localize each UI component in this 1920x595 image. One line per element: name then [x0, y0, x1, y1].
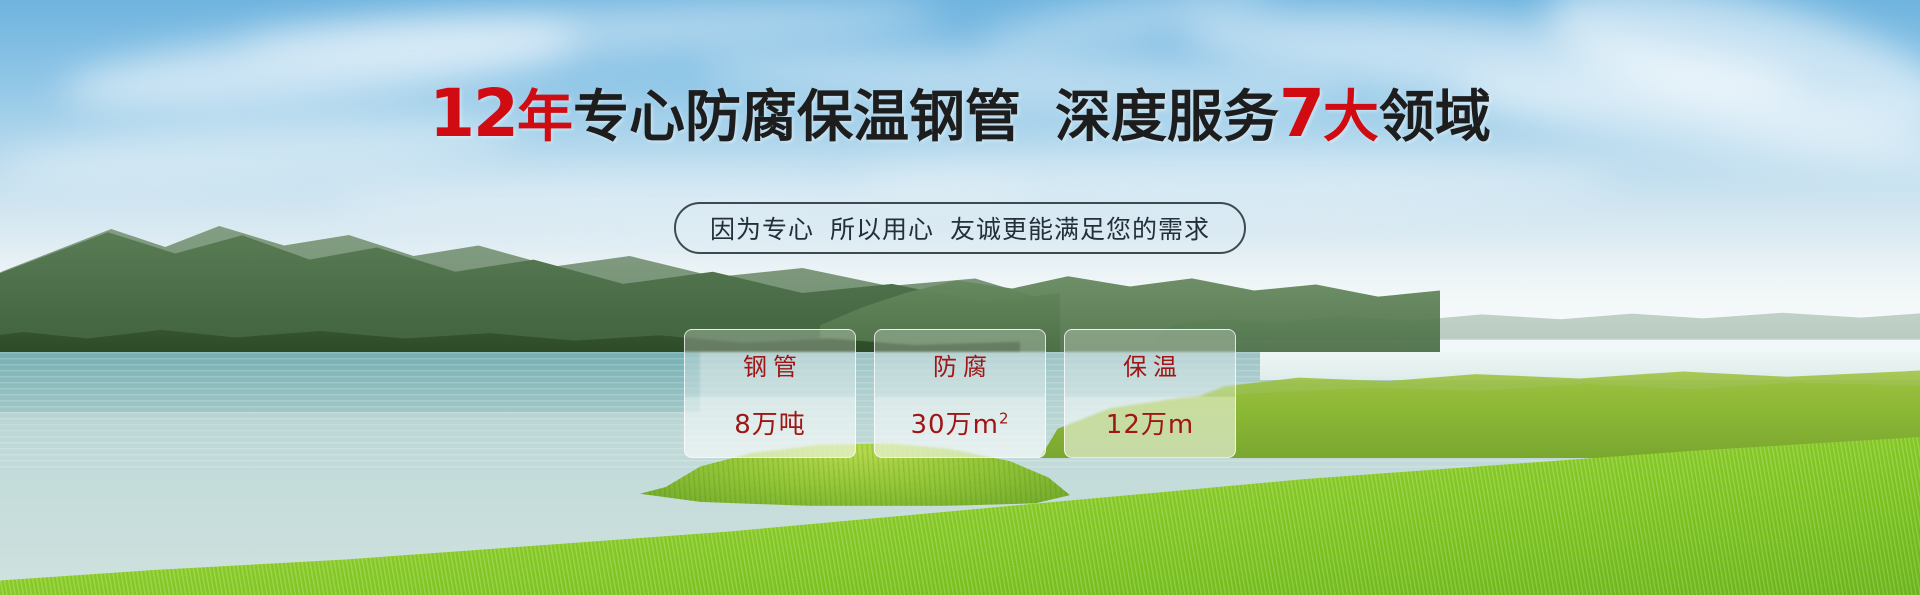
stat-value: 30万m2	[911, 404, 1010, 441]
stat-label: 钢管	[737, 347, 803, 382]
hero-banner: 12年专心防腐保温钢管深度服务7大领域 因为专心所以用心友诚更能满足您的需求 钢…	[0, 0, 1920, 595]
subtitle-part-3: 友诚更能满足您的需求	[950, 210, 1210, 246]
stat-value-main: 12万m	[1106, 410, 1194, 440]
stat-label: 保温	[1117, 347, 1183, 382]
stat-value: 12万m	[1106, 404, 1194, 441]
stat-value-superscript: 2	[999, 409, 1010, 427]
stat-card-anticorrosion: 防腐 30万m2	[874, 329, 1046, 458]
stat-card-steel-pipe: 钢管 8万吨	[684, 329, 856, 458]
stat-card-insulation: 保温 12万m	[1064, 329, 1236, 458]
headline-main-text: 专心防腐保温钢管	[573, 85, 1021, 150]
stat-value: 8万吨	[734, 404, 806, 441]
subtitle-part-1: 因为专心	[710, 210, 814, 246]
headline-years-unit: 年	[517, 85, 573, 150]
headline-fields-number: 7	[1279, 75, 1323, 152]
headline-tail-text: 领域	[1379, 85, 1491, 150]
stat-value-main: 8万吨	[734, 410, 806, 440]
headline-fields-unit: 大	[1323, 85, 1379, 150]
stat-value-main: 30万m	[911, 410, 999, 440]
subtitle-pill: 因为专心所以用心友诚更能满足您的需求	[674, 202, 1246, 254]
headline-second-text: 深度服务	[1055, 85, 1279, 150]
stat-cards: 钢管 8万吨 防腐 30万m2 保温 12万m	[684, 329, 1236, 458]
stat-label: 防腐	[927, 347, 993, 382]
subtitle-part-2: 所以用心	[830, 210, 934, 246]
banner-content: 12年专心防腐保温钢管深度服务7大领域 因为专心所以用心友诚更能满足您的需求 钢…	[0, 0, 1920, 595]
headline-years-number: 12	[429, 75, 517, 152]
headline: 12年专心防腐保温钢管深度服务7大领域	[0, 84, 1920, 148]
